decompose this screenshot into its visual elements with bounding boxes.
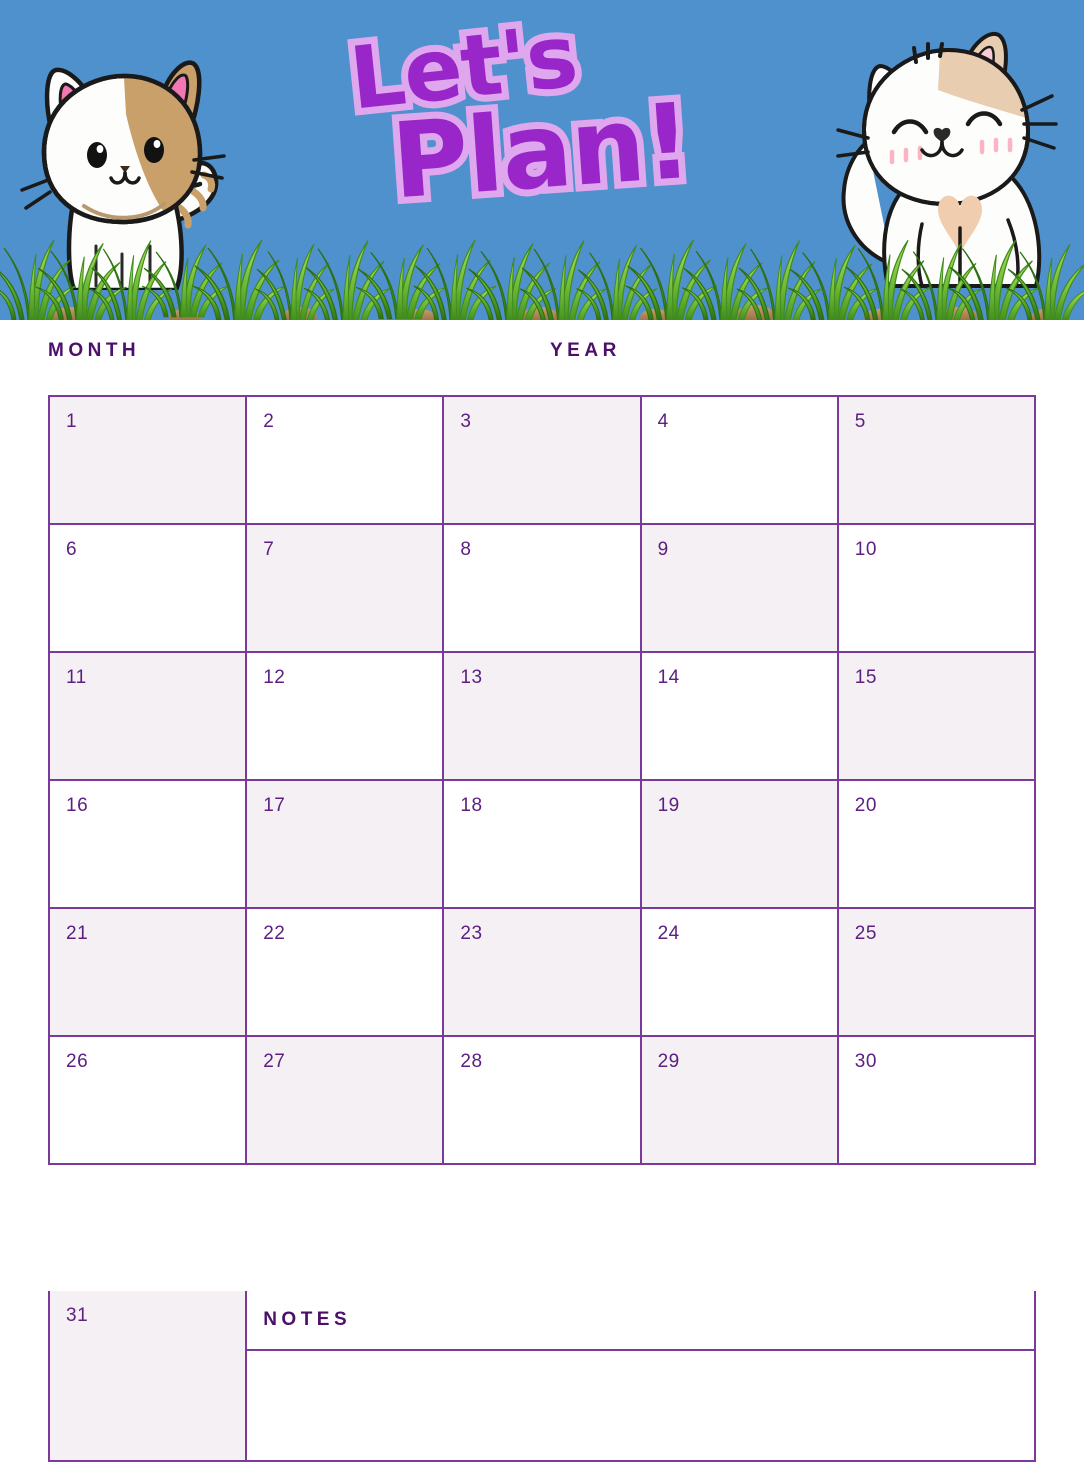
day-cell[interactable]: 18: [444, 781, 641, 909]
day-cell[interactable]: 6: [50, 525, 247, 653]
day-number: 26: [66, 1051, 88, 1073]
day-number: 3: [460, 411, 471, 433]
day-number: 1: [66, 411, 77, 433]
title-line-2: Plan!: [388, 80, 694, 223]
day-cell[interactable]: 23: [444, 909, 641, 1037]
notes-writing-area[interactable]: [247, 1351, 1034, 1460]
day-number: 6: [66, 539, 77, 561]
day-number: 31: [66, 1305, 88, 1327]
day-cell[interactable]: 5: [839, 397, 1036, 525]
year-label: YEAR: [550, 340, 621, 362]
day-cell[interactable]: 10: [839, 525, 1036, 653]
day-number: 30: [855, 1051, 877, 1073]
day-number: 9: [658, 539, 669, 561]
day-number: 5: [855, 411, 866, 433]
day-cell[interactable]: 20: [839, 781, 1036, 909]
day-number: 20: [855, 795, 877, 817]
day-number: 2: [263, 411, 274, 433]
notes-label: NOTES: [263, 1309, 351, 1331]
title-line-1: Let's: [345, 6, 581, 129]
banner-title: Let's Plan!: [330, 18, 720, 228]
day-number: 21: [66, 923, 88, 945]
day-cell[interactable]: 25: [839, 909, 1036, 1037]
day-number: 4: [658, 411, 669, 433]
day-number: 27: [263, 1051, 285, 1073]
day-number: 7: [263, 539, 274, 561]
day-number: 17: [263, 795, 285, 817]
day-cell[interactable]: 2: [247, 397, 444, 525]
day-cell[interactable]: 8: [444, 525, 641, 653]
day-number: 25: [855, 923, 877, 945]
day-number: 24: [658, 923, 680, 945]
notes-header: NOTES: [247, 1291, 1034, 1351]
planner-sheet: MONTH YEAR 1 2 3 4 5 6 7 8 9 10 11 12 13…: [0, 320, 1084, 1385]
day-cell[interactable]: 16: [50, 781, 247, 909]
day-number: 22: [263, 923, 285, 945]
day-cell[interactable]: 29: [642, 1037, 839, 1165]
day-cell[interactable]: 12: [247, 653, 444, 781]
day-cell[interactable]: 24: [642, 909, 839, 1037]
day-cell[interactable]: 17: [247, 781, 444, 909]
day-number: 28: [460, 1051, 482, 1073]
day-cell[interactable]: 11: [50, 653, 247, 781]
day-number: 14: [658, 667, 680, 689]
calendar-grid: 1 2 3 4 5 6 7 8 9 10 11 12 13 14 15 16 1…: [48, 395, 1036, 1165]
day-number: 19: [658, 795, 680, 817]
day-number: 16: [66, 795, 88, 817]
day-cell[interactable]: 28: [444, 1037, 641, 1165]
day-cell-31[interactable]: 31: [50, 1291, 247, 1460]
day-cell[interactable]: 15: [839, 653, 1036, 781]
calendar-bottom-row: 31 NOTES: [48, 1291, 1036, 1462]
day-cell[interactable]: 9: [642, 525, 839, 653]
day-number: 11: [66, 667, 87, 689]
day-number: 10: [855, 539, 877, 561]
day-number: 8: [460, 539, 471, 561]
day-cell[interactable]: 3: [444, 397, 641, 525]
day-cell[interactable]: 26: [50, 1037, 247, 1165]
notes-section: NOTES: [247, 1291, 1036, 1460]
day-cell[interactable]: 13: [444, 653, 641, 781]
day-cell[interactable]: 14: [642, 653, 839, 781]
day-cell[interactable]: 22: [247, 909, 444, 1037]
day-cell[interactable]: 4: [642, 397, 839, 525]
day-number: 23: [460, 923, 482, 945]
day-cell[interactable]: 30: [839, 1037, 1036, 1165]
day-number: 15: [855, 667, 877, 689]
day-cell[interactable]: 19: [642, 781, 839, 909]
day-cell[interactable]: 21: [50, 909, 247, 1037]
day-cell[interactable]: 1: [50, 397, 247, 525]
day-number: 29: [658, 1051, 680, 1073]
form-labels: MONTH YEAR: [48, 340, 1036, 380]
month-label: MONTH: [48, 340, 140, 362]
day-number: 13: [460, 667, 482, 689]
grass-strip: [0, 228, 1084, 320]
day-cell[interactable]: 7: [247, 525, 444, 653]
day-number: 18: [460, 795, 482, 817]
header-banner: Let's Plan!: [0, 0, 1084, 320]
day-cell[interactable]: 27: [247, 1037, 444, 1165]
day-number: 12: [263, 667, 285, 689]
